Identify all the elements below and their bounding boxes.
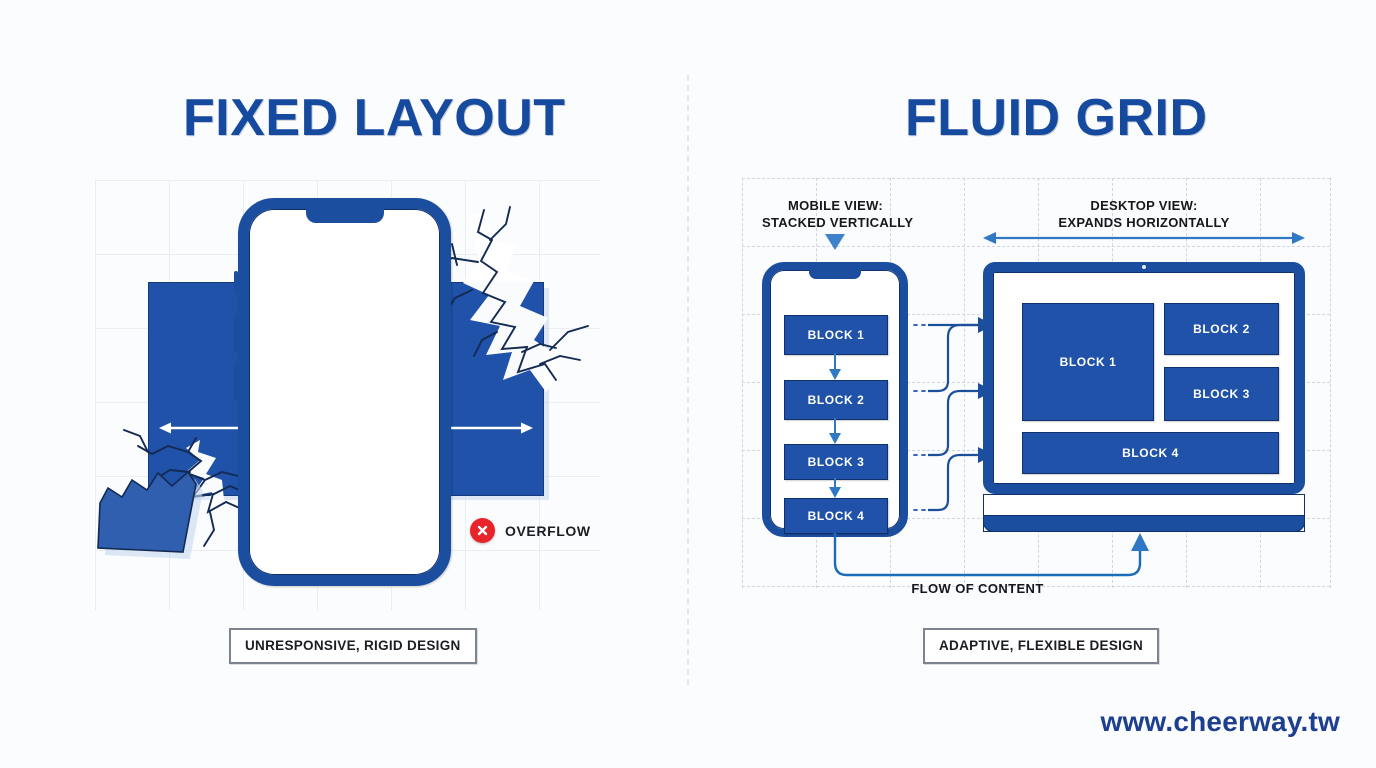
phone-device-fluid: BLOCK 1 BLOCK 2 BLOCK 3 BLOCK 4 <box>762 262 908 537</box>
overflow-label: OVERFLOW <box>505 523 591 539</box>
grid-line-h <box>742 178 1330 179</box>
infographic-canvas: FIXED LAYOUT FLUID GRID CONTENT WIDTH: 9… <box>0 0 1376 768</box>
mobile-view-note-line2: STACKED VERTICALLY <box>762 214 909 231</box>
mobile-view-note-line1: MOBILE VIEW: <box>762 197 909 214</box>
desktop-block-3: BLOCK 3 <box>1164 367 1279 421</box>
caption-unresponsive-rigid: UNRESPONSIVE, RIGID DESIGN <box>229 628 477 664</box>
panel-divider <box>687 75 689 685</box>
mobile-block-2: BLOCK 2 <box>784 380 888 420</box>
phone-volume-up-button <box>234 313 238 353</box>
triangle-down-icon <box>825 234 845 250</box>
mobile-block-3: BLOCK 3 <box>784 444 888 480</box>
laptop-device: BLOCK 1 BLOCK 2 BLOCK 3 BLOCK 4 <box>983 262 1305 494</box>
desktop-block-4: BLOCK 4 <box>1022 432 1279 474</box>
close-icon <box>476 524 489 537</box>
flow-of-content-label: FLOW OF CONTENT <box>836 581 1119 596</box>
page-title-fluid-grid: FLUID GRID <box>905 88 1208 148</box>
desktop-view-note: DESKTOP VIEW: EXPANDS HORIZONTALLY <box>1030 197 1258 231</box>
stack-arrow-3 <box>829 478 841 498</box>
phone-notch <box>306 208 384 223</box>
x-circle-icon <box>470 518 495 543</box>
desktop-view-note-line2: EXPANDS HORIZONTALLY <box>1030 214 1258 231</box>
page-title-fixed-layout: FIXED LAYOUT <box>183 88 566 148</box>
phone-notch <box>809 269 861 279</box>
desktop-view-note-line1: DESKTOP VIEW: <box>1030 197 1258 214</box>
desktop-block-1: BLOCK 1 <box>1022 303 1154 421</box>
caption-adaptive-flexible: ADAPTIVE, FLEXIBLE DESIGN <box>923 628 1159 664</box>
stack-arrow-2 <box>829 418 841 444</box>
mobile-block-1: BLOCK 1 <box>784 315 888 355</box>
phone-volume-down-button <box>234 361 238 401</box>
overflow-badge: OVERFLOW <box>470 518 591 543</box>
camera-dot-icon <box>1142 265 1146 269</box>
phone-device-fixed <box>238 198 451 586</box>
desktop-expand-arrow <box>983 231 1305 245</box>
phone-mute-button <box>234 271 238 295</box>
mobile-view-note: MOBILE VIEW: STACKED VERTICALLY <box>762 197 909 231</box>
footer-website-url: www.cheerway.tw <box>1100 706 1340 738</box>
stack-arrow-1 <box>829 353 841 380</box>
laptop-foot <box>983 515 1305 532</box>
desktop-block-2: BLOCK 2 <box>1164 303 1279 355</box>
flow-of-content-arrow <box>820 533 1160 585</box>
mobile-block-4: BLOCK 4 <box>784 498 888 534</box>
